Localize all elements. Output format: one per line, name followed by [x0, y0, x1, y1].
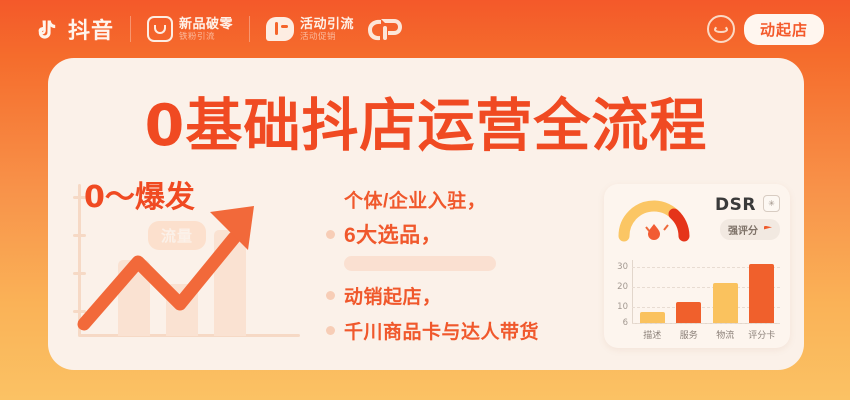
x-tick-label: 评分卡: [744, 328, 781, 341]
list-item-label: 6大选品，: [344, 219, 442, 249]
page-title: 0基础抖店运营全流程: [48, 80, 804, 162]
chart-bar: [713, 283, 738, 323]
chart-bar: [749, 264, 774, 323]
gridline: [632, 323, 780, 324]
badge-title: 活动引流: [300, 17, 354, 31]
chart-y-axis-line: [632, 260, 633, 324]
list-item-label: 个体/企业入驻，: [344, 186, 486, 213]
bar-column: [671, 259, 708, 323]
placeholder-bar: [344, 256, 496, 271]
chart-bar: [676, 302, 701, 323]
y-tick-label: 10: [612, 302, 628, 312]
badge-text-group: 新品破零 铁粉引流: [179, 17, 233, 41]
brand-name: 抖音: [68, 13, 114, 45]
list-item-label: 动销起店，: [344, 282, 442, 309]
list-item-label: 千川商品卡与达人带货: [344, 317, 539, 344]
badge-subtitle: 活动促销: [300, 32, 354, 41]
x-tick-label: 描述: [634, 328, 671, 341]
header-right-group: 动起店: [707, 14, 824, 45]
y-tick-label: 6: [612, 318, 628, 328]
bullet-list: 个体/企业入驻， 6大选品， 动销起店， 千川商品卡与达人带货: [326, 186, 586, 352]
list-item: 动销起店，: [326, 282, 586, 308]
douyin-note-icon: [34, 16, 61, 43]
bullet-dot: [326, 326, 335, 335]
swoosh-circle-icon[interactable]: [707, 15, 735, 43]
badge-text-group: 活动引流 活动促销: [300, 17, 354, 41]
dsr-title: DSR: [715, 195, 756, 215]
partner-logo-icon: [364, 14, 404, 44]
x-tick-label: 服务: [671, 328, 708, 341]
header-badge-activity[interactable]: 活动引流 活动促销: [266, 17, 354, 41]
score-badge[interactable]: 强评分: [720, 219, 780, 240]
burst-label: 0〜爆发: [84, 172, 195, 216]
bar-column: [707, 259, 744, 323]
action-pill-button[interactable]: 动起店: [744, 14, 824, 45]
chart-bar: [640, 312, 665, 323]
bar-column: [744, 259, 781, 323]
speech-bubble-icon: [266, 17, 294, 41]
badge-subtitle: 铁粉引流: [179, 32, 233, 41]
dsr-panel[interactable]: DSR ✳ 强评分 6 10 20 30 描述服务物流评分卡: [604, 184, 790, 348]
badge-title: 新品破零: [179, 17, 233, 31]
sparkle-icon[interactable]: ✳: [763, 195, 780, 212]
growth-chart-illustration: 0〜爆发 流量: [62, 176, 312, 362]
header-divider-2: [249, 16, 250, 42]
header-divider-1: [130, 16, 131, 42]
bullet-dot: [326, 230, 335, 239]
list-item: 个体/企业入驻，: [326, 186, 586, 212]
brand-logo[interactable]: 抖音: [34, 13, 114, 45]
traffic-badge: 流量: [148, 221, 206, 250]
smiley-box-icon: [147, 16, 173, 42]
list-item: 6大选品，: [326, 221, 586, 247]
header-badge-new-product[interactable]: 新品破零 铁粉引流: [147, 16, 233, 42]
bar-column: [634, 259, 671, 323]
y-tick-label: 30: [612, 262, 628, 272]
y-tick-label: 20: [612, 282, 628, 292]
chart-x-labels: 描述服务物流评分卡: [634, 328, 780, 341]
bullet-dot: [326, 291, 335, 300]
list-item: 千川商品卡与达人带货: [326, 317, 586, 343]
flag-icon: [764, 226, 772, 234]
dsr-bar-chart: 6 10 20 30 描述服务物流评分卡: [612, 246, 782, 342]
x-tick-label: 物流: [707, 328, 744, 341]
speedometer-gauge-icon: [616, 194, 692, 247]
chart-bars: [634, 259, 780, 323]
main-content-card: 0基础抖店运营全流程 0〜爆发 流量 个体/企业入驻， 6大选品，: [48, 58, 804, 370]
top-header-bar: 抖音 新品破零 铁粉引流 活动引流 活动促销 动起店: [0, 0, 850, 58]
score-badge-label: 强评分: [728, 222, 758, 237]
dsr-header: DSR ✳ 强评分: [604, 184, 790, 244]
